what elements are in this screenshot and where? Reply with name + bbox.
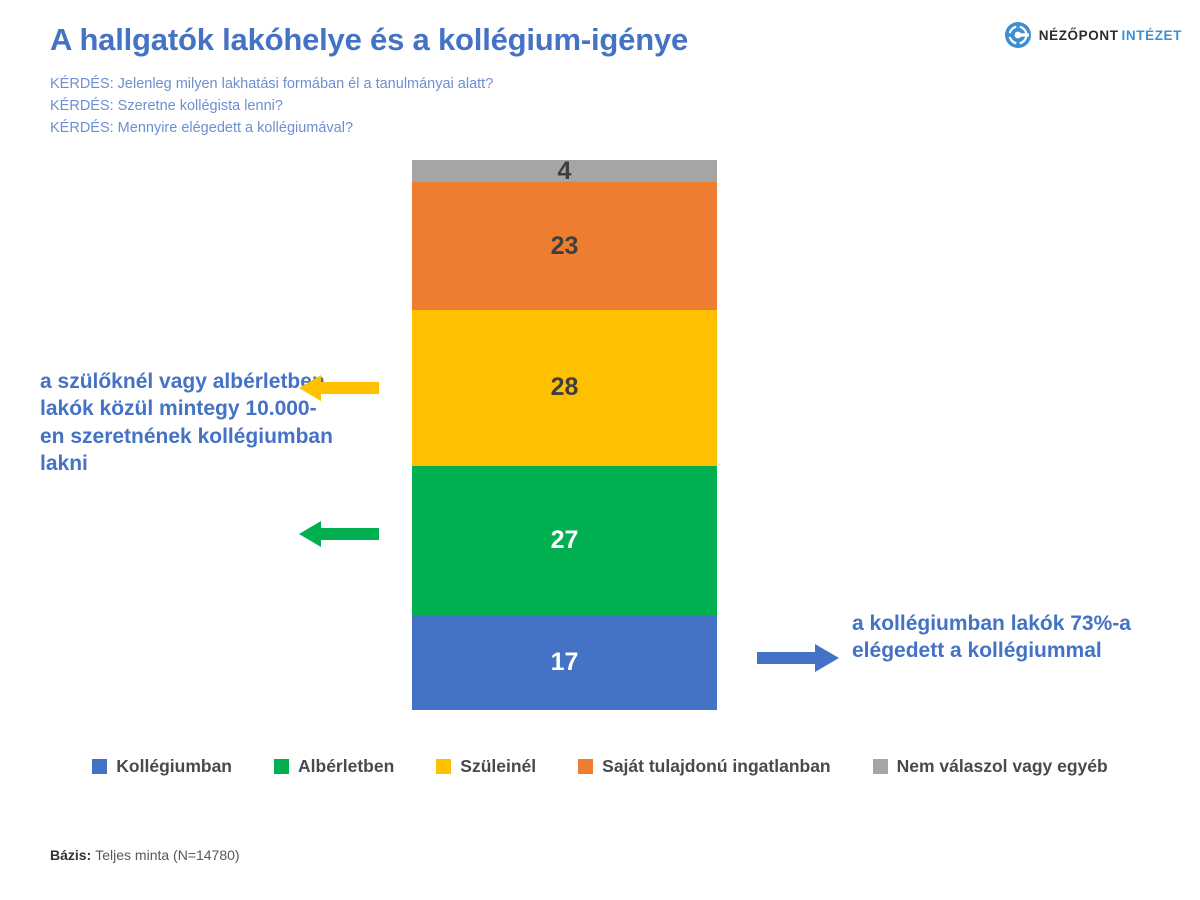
question-line-2: KÉRDÉS:Szeretne kollégista lenni?: [50, 99, 283, 114]
logo-word-nezopont: NÉZŐPONT: [1039, 28, 1119, 43]
legend-item-nem-valaszol-vagy-egyeb[interactable]: Nem válaszol vagy egyéb: [873, 758, 1108, 776]
legend-label-szuleinel: Szüleinél: [460, 758, 536, 776]
question-text-3: Mennyire elégedett a kollégiumával?: [118, 120, 353, 136]
footer-basis-label: Bázis:: [50, 847, 91, 863]
annotation-left-text: a szülőknél vagy albérletben lakók közül…: [40, 368, 340, 477]
question-label-3: KÉRDÉS:: [50, 120, 114, 136]
bar-segment-szuleinel[interactable]: 28: [412, 310, 717, 466]
question-label-2: KÉRDÉS:: [50, 98, 114, 114]
legend-item-sajat-tulajdonu-ingatlanban[interactable]: Saját tulajdonú ingatlanban: [578, 758, 830, 776]
logo-wordmark: NÉZŐPONTINTÉZET: [1039, 28, 1182, 43]
chart-legend: Kollégiumban Albérletben Szüleinél Saját…: [0, 758, 1200, 776]
bar-segment-alberletben[interactable]: 27: [412, 466, 717, 616]
question-text-2: Szeretne kollégista lenni?: [118, 98, 283, 114]
brand-logo: NÉZŐPONTINTÉZET: [1005, 22, 1182, 48]
arrow-right-blue-icon: [757, 643, 839, 673]
legend-swatch-kollegiumban: [92, 759, 107, 774]
legend-label-alberletben: Albérletben: [298, 758, 394, 776]
logo-word-intezet: INTÉZET: [1122, 28, 1182, 43]
bar-value-nem-valaszol-vagy-egyeb: 4: [558, 159, 572, 184]
bar-value-kollegiumban: 17: [551, 650, 579, 675]
target-circle-icon: [1005, 22, 1031, 48]
legend-item-szuleinel[interactable]: Szüleinél: [436, 758, 536, 776]
legend-label-sajat-tulajdonu-ingatlanban: Saját tulajdonú ingatlanban: [602, 758, 830, 776]
arrow-left-green-icon: [299, 520, 379, 548]
footer-basis-text: Teljes minta (N=14780): [95, 847, 239, 863]
page-title: A hallgatók lakóhelye és a kollégium-igé…: [50, 22, 950, 58]
legend-item-alberletben[interactable]: Albérletben: [274, 758, 394, 776]
legend-swatch-nem-valaszol-vagy-egyeb: [873, 759, 888, 774]
annotation-right-text: a kollégiumban lakók 73%-a elégedett a k…: [852, 610, 1182, 665]
legend-swatch-szuleinel: [436, 759, 451, 774]
bar-segment-sajat-tulajdonu-ingatlanban[interactable]: 23: [412, 182, 717, 310]
footer-basis: Bázis:Teljes minta (N=14780): [50, 848, 240, 862]
legend-swatch-sajat-tulajdonu-ingatlanban: [578, 759, 593, 774]
question-text-1: Jelenleg milyen lakhatási formában él a …: [118, 76, 494, 92]
legend-item-kollegiumban[interactable]: Kollégiumban: [92, 758, 232, 776]
bar-value-sajat-tulajdonu-ingatlanban: 23: [551, 234, 579, 259]
question-label-1: KÉRDÉS:: [50, 76, 114, 92]
bar-value-alberletben: 27: [551, 528, 579, 553]
bar-value-szuleinel: 28: [551, 375, 579, 400]
question-line-3: KÉRDÉS:Mennyire elégedett a kollégiumáva…: [50, 121, 353, 136]
stacked-bar-chart: 4 23 28 27 17: [412, 160, 717, 710]
legend-label-nem-valaszol-vagy-egyeb: Nem válaszol vagy egyéb: [897, 758, 1108, 776]
slide-canvas: A hallgatók lakóhelye és a kollégium-igé…: [0, 0, 1200, 900]
question-line-1: KÉRDÉS:Jelenleg milyen lakhatási formába…: [50, 77, 493, 92]
bar-segment-kollegiumban[interactable]: 17: [412, 616, 717, 710]
legend-swatch-alberletben: [274, 759, 289, 774]
bar-segment-nem-valaszol-vagy-egyeb[interactable]: 4: [412, 160, 717, 182]
legend-label-kollegiumban: Kollégiumban: [116, 758, 232, 776]
arrow-left-yellow-icon: [299, 374, 379, 402]
